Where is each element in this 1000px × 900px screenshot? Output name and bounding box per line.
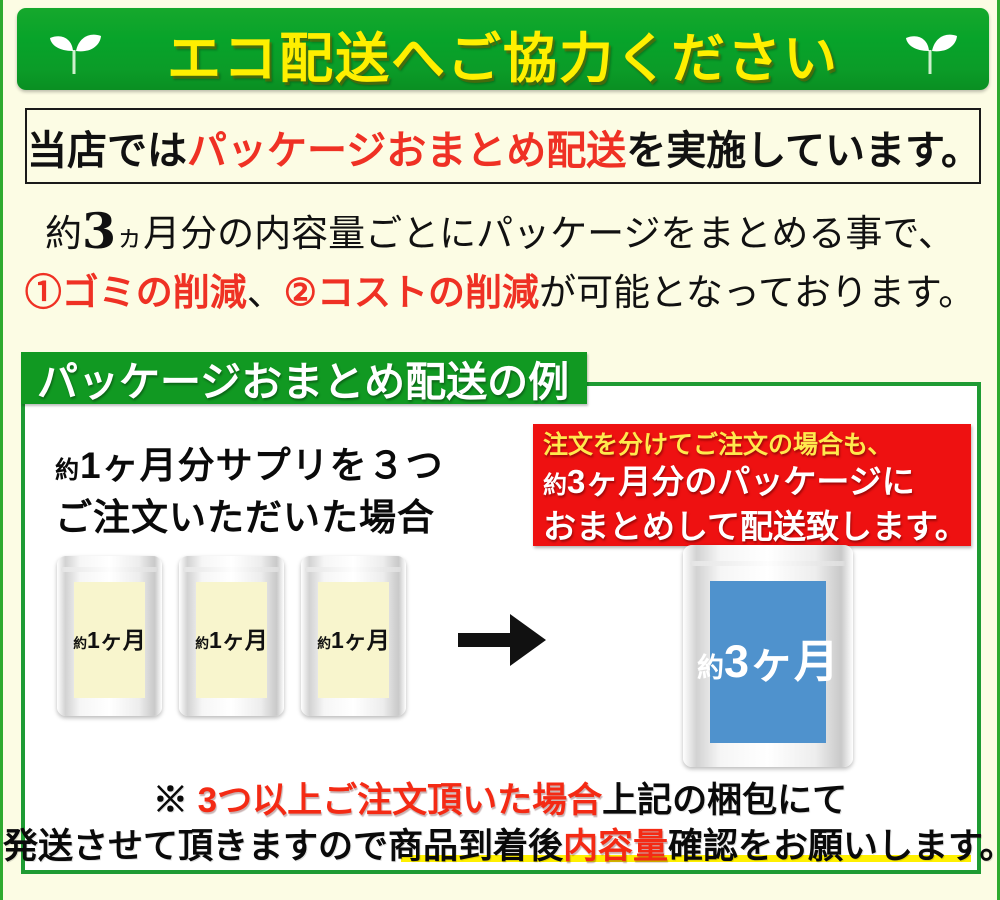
package-pouch-1month: 約1ヶ月 (179, 556, 284, 716)
pouch-label-prefix: 約 (195, 636, 209, 651)
pouch-label-text: 約1ヶ月 (195, 629, 268, 652)
note-line2-prefix: 発送させて頂きますので商品到着後 (3, 827, 563, 866)
order-case-caption: 約1ヶ月分サプリを３つ ご注文いただいた場合 (55, 442, 444, 541)
note-line1: ※ 3つ以上ご注文頂いた場合上記の梱包にて (3, 772, 997, 823)
mid-line1-prefix: 約 (45, 212, 82, 255)
order-case-line1-prefix: 約 (55, 457, 80, 484)
pouch-label: 約3ヶ月 (710, 581, 826, 743)
mid-benefit-1: ①ゴミの削減 (25, 270, 247, 314)
mid-paragraph-line2: ①ゴミの削減、②コストの削減が可能となっております。 (3, 262, 997, 316)
note-line2-highlight: 内容量 (563, 827, 668, 866)
pouch-label-text: 約1ヶ月 (73, 629, 146, 652)
pouch-label-value: 1ヶ月 (331, 627, 390, 653)
pouch-label: 約1ヶ月 (74, 582, 145, 699)
callout-line2-prefix: 約 (543, 472, 567, 499)
statement-highlight: パッケージおまとめ配送 (187, 127, 626, 174)
sprout-icon (901, 24, 961, 78)
note-line2-text: 発送させて頂きますので商品到着後内容量確認をお願いします。 (3, 827, 1000, 866)
note-line2: 発送させて頂きますので商品到着後内容量確認をお願いします。 (3, 818, 997, 869)
package-pouch-3month: 約3ヶ月 (683, 545, 853, 767)
note-line2-suffix: 確認をお願いします。 (668, 827, 1000, 866)
statement-prefix: 当店では (27, 127, 187, 174)
statement-suffix: を実施しています。 (626, 127, 981, 174)
note-mark: ※ (153, 781, 198, 820)
pouch-label-prefix: 約 (697, 653, 724, 683)
pouch-label-value: 3ヶ月 (724, 636, 839, 687)
mid-separator: 、 (247, 271, 284, 314)
red-callout-box: 注文を分けてご注文の場合も、 約3ヶ月分のパッケージに おまとめして配送致します… (533, 424, 971, 546)
callout-line3: おまとめして配送致します。 (543, 506, 971, 547)
note-line1-highlight: 3つ以上ご注文頂いた場合 (198, 781, 602, 820)
note-line1-text: ※ 3つ以上ご注文頂いた場合上記の梱包にて (153, 781, 847, 820)
statement-box: 当店ではパッケージおまとめ配送を実施しています。 (25, 108, 981, 184)
mid-paragraph-line1: 約3ヵ月分の内容量ごとにパッケージをまとめる事で、 (3, 202, 997, 260)
mid-line1-number: 3 (82, 202, 116, 260)
example-section-tab: パッケージおまとめ配送の例 (21, 352, 587, 404)
pouch-label-value: 1ヶ月 (209, 627, 268, 653)
callout-line1: 注文を分けてご注文の場合も、 (543, 424, 971, 461)
note-line1-tail: 上記の梱包にて (602, 781, 847, 820)
pouch-label: 約1ヶ月 (196, 582, 267, 699)
package-pouch-1month: 約1ヶ月 (57, 556, 162, 716)
statement-text: 当店ではパッケージおまとめ配送を実施しています。 (27, 118, 979, 176)
package-pouch-1month: 約1ヶ月 (301, 556, 406, 716)
example-tab-label: パッケージおまとめ配送の例 (37, 348, 569, 408)
pouch-label-value: 1ヶ月 (87, 627, 146, 653)
order-case-line2: ご注文いただいた場合 (55, 494, 444, 541)
callout-line2: 約3ヶ月分のパッケージに (543, 461, 971, 506)
banner-title: エコ配送へご協力ください (17, 14, 989, 90)
order-case-line1-text: 1ヶ月分サプリを３つ (80, 445, 444, 486)
mid-line1-rest: 月分の内容量ごとにパッケージをまとめる事で、 (143, 212, 955, 255)
mid-benefit-2: ②コストの削減 (284, 270, 539, 314)
pouch-label: 約1ヶ月 (318, 582, 389, 699)
mid-line2-tail: が可能となっております。 (539, 271, 975, 314)
eco-shipping-notice-page: エコ配送へご協力ください 当店ではパッケージおまとめ配送を実施しています。 約3… (0, 0, 1000, 900)
pouch-label-prefix: 約 (73, 636, 87, 651)
pouch-label-text: 約1ヶ月 (317, 629, 390, 652)
header-banner: エコ配送へご協力ください (17, 8, 989, 90)
pouch-label-text: 約3ヶ月 (697, 639, 839, 684)
right-arrow-icon (458, 608, 548, 672)
pouch-label-prefix: 約 (317, 636, 331, 651)
mid-line1-unit: ヵ (116, 222, 143, 253)
order-case-line1: 約1ヶ月分サプリを３つ (55, 442, 444, 494)
callout-line2-text: 3ヶ月分のパッケージに (567, 463, 915, 500)
